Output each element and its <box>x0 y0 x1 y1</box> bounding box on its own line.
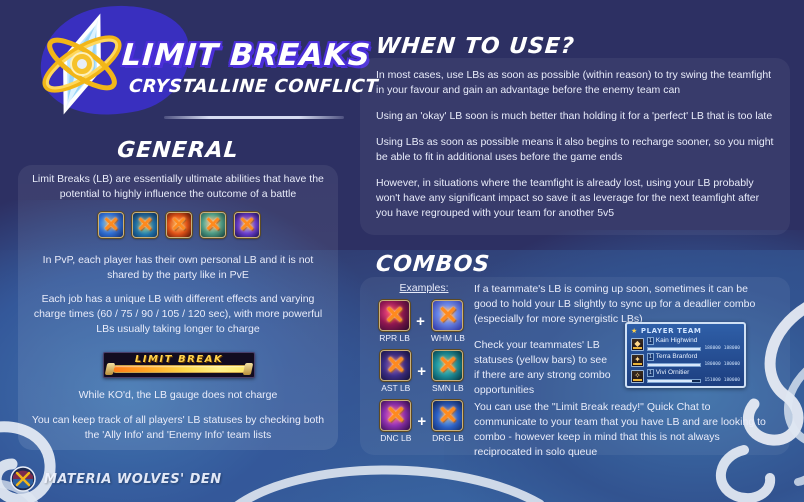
combos-paragraph-1: If a teammate's LB is coming up soon, so… <box>474 282 760 327</box>
player-hp-max-3: 180000 <box>724 378 740 383</box>
lb-icon-1: ✕ <box>98 212 124 238</box>
combos-paragraph-2: Check your teammates' LB statuses (yello… <box>474 338 614 398</box>
rpr-lb-icon: ✕ <box>379 300 410 331</box>
combo-pair-3: ✕ DNC LB + ✕ DRG LB <box>374 400 470 443</box>
header: LIMIT BREAKS CRYSTALLINE CONFLICT <box>22 8 352 120</box>
page-title: LIMIT BREAKS <box>121 38 372 73</box>
combos-heading: COMBOS <box>375 252 491 277</box>
lb-icon-3: ✕ <box>166 212 192 238</box>
lb-icon-2: ✕ <box>132 212 158 238</box>
crystal-emblem-icon <box>30 12 134 116</box>
drg-lb-icon: ✕ <box>432 400 463 431</box>
player-level-3: 1 <box>647 369 654 377</box>
smn-lb-icon: ✕ <box>432 350 463 381</box>
team-row: ✧ 1 Vivi Ornitier 151000 180000 <box>631 369 740 383</box>
gauge-cap-left <box>105 363 116 375</box>
when-to-use-heading: WHEN TO USE? <box>375 34 576 59</box>
lb-cross-icon: ✕ <box>381 351 410 380</box>
general-paragraph-3: Each job has a unique LB with different … <box>26 292 330 337</box>
general-heading: GENERAL <box>0 138 357 163</box>
ast-lb-icon: ✕ <box>380 350 411 381</box>
combo-right-label-3: DRG LB <box>432 433 464 443</box>
lb-cross-icon: ✕ <box>381 401 410 430</box>
player-hp-bar-1 <box>647 347 701 351</box>
player-team-header: ★ PLAYER TEAM <box>631 327 740 335</box>
limit-break-gauge-label: LIMIT BREAK <box>104 354 254 365</box>
player-name-1: Kain Highwind <box>656 337 698 345</box>
lb-cross-icon: ✕ <box>433 301 462 330</box>
plus-icon: + <box>416 314 425 329</box>
combo-pair-1: ✕ RPR LB + ✕ WHM LB <box>374 300 470 343</box>
player-level-1: 1 <box>647 337 654 345</box>
player-hp-current-1: 188000 <box>704 346 720 351</box>
when-paragraph-2: Using an 'okay' LB soon is much better t… <box>376 109 774 124</box>
general-paragraph-2: In PvP, each player has their own person… <box>32 253 324 283</box>
footer-brand: MATERIA WOLVES' DEN <box>44 472 222 487</box>
combo-left-label-2: AST LB <box>381 383 410 393</box>
when-paragraph-4: However, in situations where the teamfig… <box>376 176 774 221</box>
lb-cross-icon: ✕ <box>433 351 462 380</box>
lb-cross-icon: ✕ <box>235 213 259 237</box>
combos-paragraph-3: You can use the "Limit Break ready!" Qui… <box>474 400 769 460</box>
dnc-lb-icon: ✕ <box>380 400 411 431</box>
lb-icon-4: ✕ <box>200 212 226 238</box>
team-row: ◆ 1 Kain Highwind 188000 188000 <box>631 337 740 351</box>
footer-watermark: MATERIA WOLVES' DEN <box>10 466 222 492</box>
when-to-use-body: In most cases, use LBs as soon as possib… <box>376 68 774 221</box>
lb-cross-icon: ✕ <box>133 213 157 237</box>
plus-icon: + <box>417 414 426 429</box>
lb-cross-icon: ✕ <box>201 213 225 237</box>
lb-cross-icon: ✕ <box>167 213 191 237</box>
player-hp-max-1: 188000 <box>724 346 740 351</box>
combo-right-2: ✕ SMN LB <box>432 350 464 393</box>
lb-icon-5: ✕ <box>234 212 260 238</box>
dragoon-job-icon: ◆ <box>631 338 644 351</box>
page-subtitle: CRYSTALLINE CONFLICT <box>128 76 378 97</box>
player-team-title: PLAYER TEAM <box>641 327 702 335</box>
player-level-2: 1 <box>647 353 654 361</box>
player-hp-current-3: 151000 <box>704 378 720 383</box>
combo-left-label-3: DNC LB <box>380 433 411 443</box>
wolf-paw-logo-icon <box>10 466 36 492</box>
whm-lb-icon: ✕ <box>432 300 463 331</box>
combo-right-label-1: WHM LB <box>431 333 465 343</box>
limit-break-gauge-fill <box>112 365 248 373</box>
lb-cross-icon: ✕ <box>433 401 462 430</box>
combo-left-2: ✕ AST LB <box>380 350 411 393</box>
combo-right-1: ✕ WHM LB <box>431 300 465 343</box>
general-paragraph-1: Limit Breaks (LB) are essentially ultima… <box>32 172 324 202</box>
player-hp-current-2: 180000 <box>704 362 720 367</box>
general-paragraph-4: While KO'd, the LB gauge does not charge <box>32 388 324 403</box>
combo-left-label-1: RPR LB <box>379 333 410 343</box>
limit-break-gauge: LIMIT BREAK <box>103 352 255 378</box>
title-divider <box>164 116 344 119</box>
general-paragraph-5: You can keep track of all players' LB st… <box>28 413 328 443</box>
lb-icon-row: ✕ ✕ ✕ ✕ ✕ <box>98 212 260 238</box>
player-hp-max-2: 180000 <box>724 362 740 367</box>
combo-right-3: ✕ DRG LB <box>432 400 464 443</box>
team-row: ✦ 1 Terra Branford 180000 180000 <box>631 353 740 367</box>
combo-left-1: ✕ RPR LB <box>379 300 410 343</box>
infographic-page: LIMIT BREAKS CRYSTALLINE CONFLICT GENERA… <box>0 0 804 502</box>
black-mage-job-icon: ✦ <box>631 354 644 367</box>
when-paragraph-1: In most cases, use LBs as soon as possib… <box>376 68 774 98</box>
combo-right-label-2: SMN LB <box>432 383 464 393</box>
when-paragraph-3: Using LBs as soon as possible means it a… <box>376 135 774 165</box>
summoner-job-icon: ✧ <box>631 370 644 383</box>
player-name-2: Terra Branford <box>656 353 698 361</box>
combo-left-3: ✕ DNC LB <box>380 400 411 443</box>
player-name-3: Vivi Ornitier <box>656 369 689 377</box>
lb-cross-icon: ✕ <box>380 301 409 330</box>
player-hp-bar-2 <box>647 363 701 367</box>
combo-pairs-list: ✕ RPR LB + ✕ WHM LB ✕ AST LB + ✕ SMN LB … <box>374 300 470 450</box>
examples-label: Examples: <box>381 282 467 294</box>
star-icon: ★ <box>631 327 638 335</box>
combo-pair-2: ✕ AST LB + ✕ SMN LB <box>374 350 470 393</box>
lb-cross-icon: ✕ <box>99 213 123 237</box>
gauge-cap-right <box>243 363 254 375</box>
plus-icon: + <box>417 364 426 379</box>
player-team-panel: ★ PLAYER TEAM ◆ 1 Kain Highwind 188000 1… <box>625 322 746 388</box>
player-hp-bar-3 <box>647 379 701 383</box>
